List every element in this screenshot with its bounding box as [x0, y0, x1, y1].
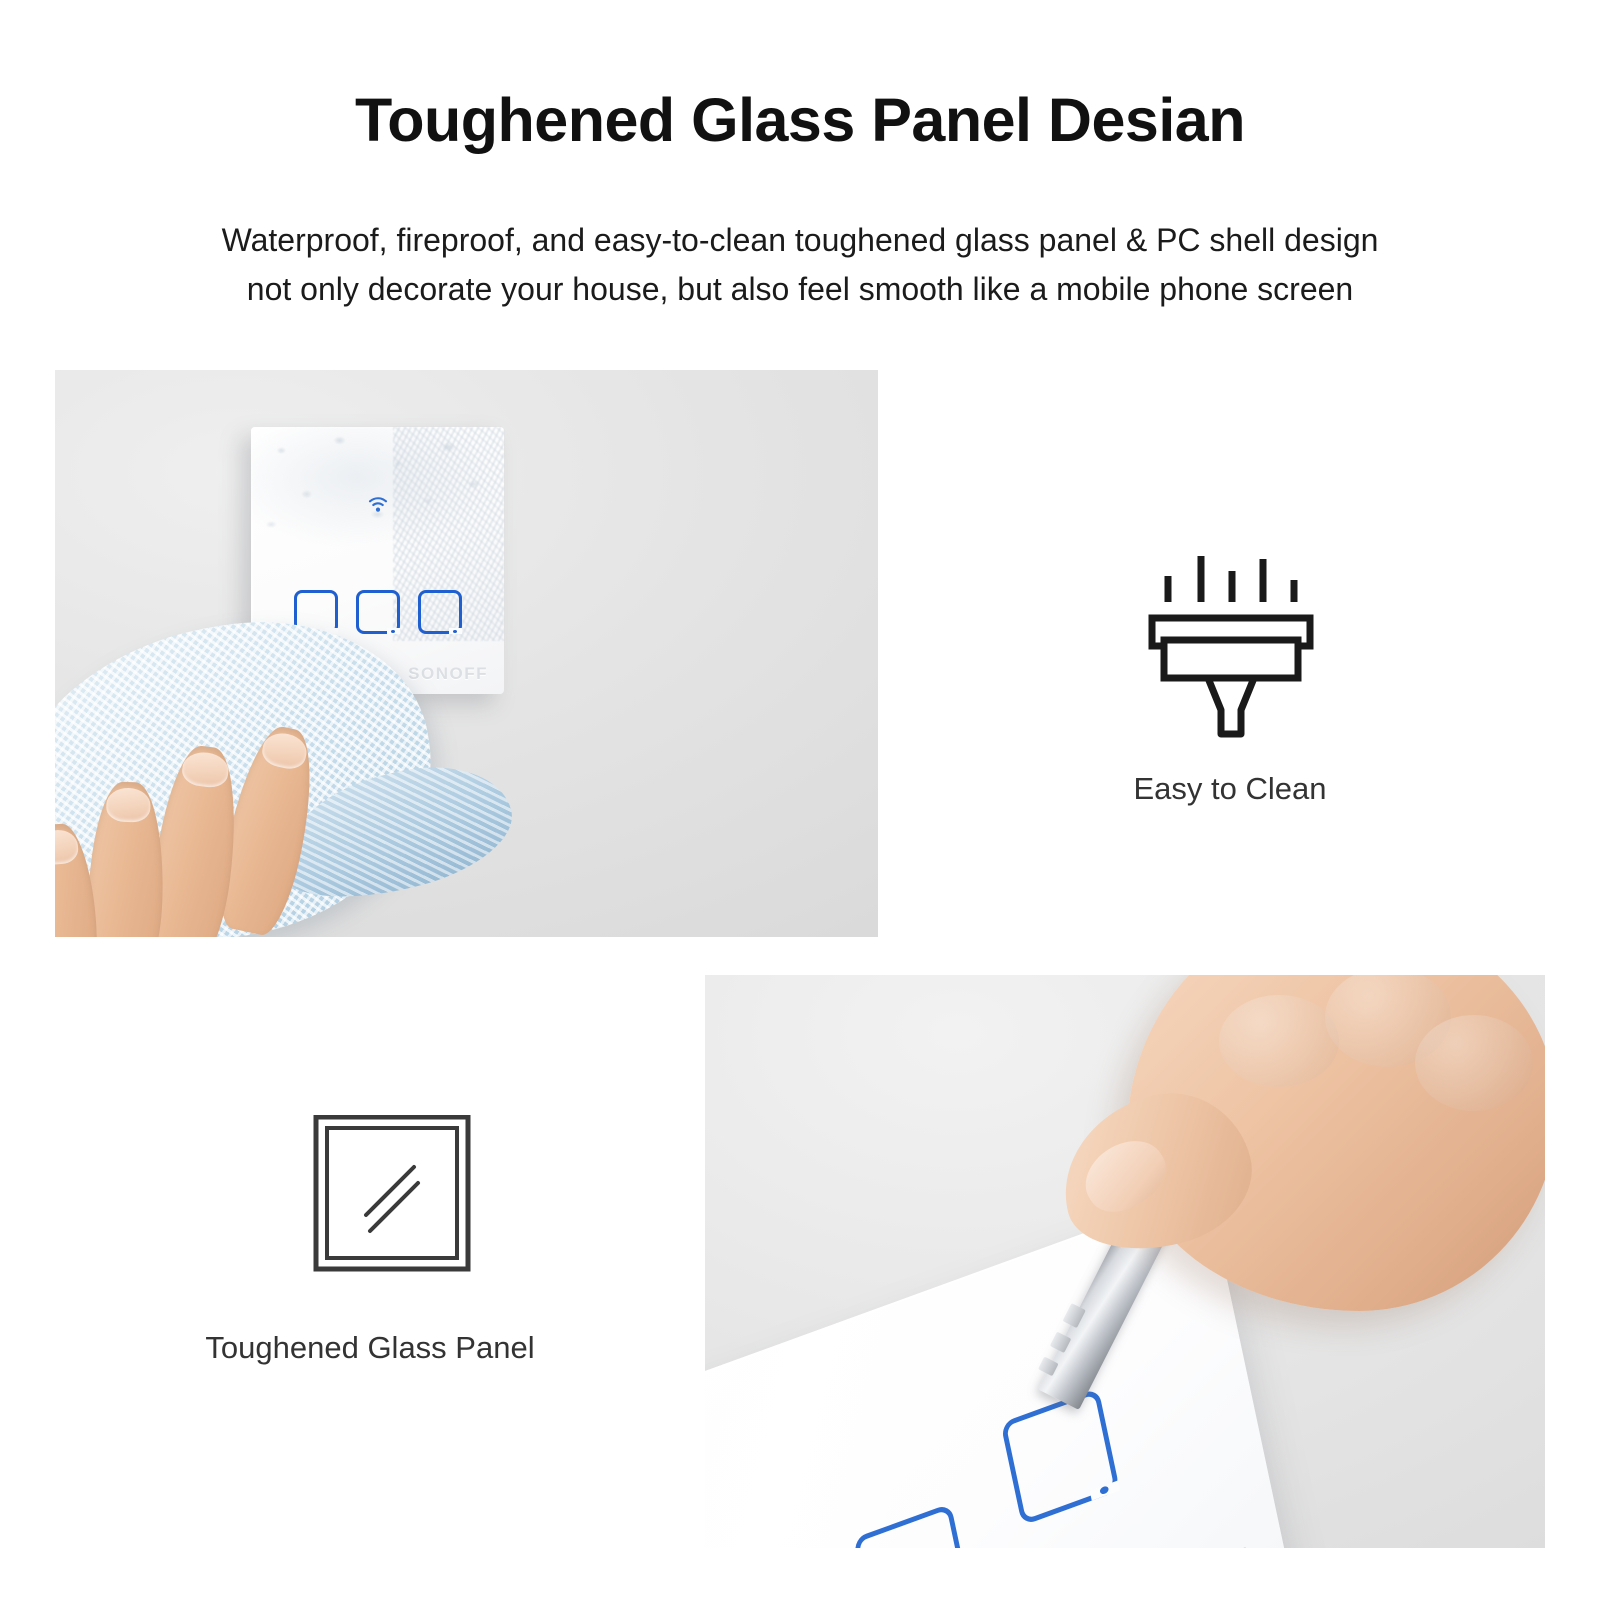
touch-button-3[interactable]: [418, 590, 462, 634]
knuckle: [1219, 995, 1339, 1087]
hand: [55, 720, 375, 937]
knuckle: [1415, 1015, 1533, 1111]
brand-logo: SONOFF: [408, 664, 488, 684]
key-scratch-test-photo: Sonoff: [705, 975, 1545, 1548]
subtitle-line-1: Waterproof, fireproof, and easy-to-clean…: [130, 216, 1470, 265]
fingernail: [55, 829, 79, 866]
feature-easy-to-clean: Easy to Clean: [1060, 540, 1400, 807]
product-feature-banner: Toughened Glass Panel Desian Waterproof,…: [0, 0, 1600, 1600]
feature-label: Toughened Glass Panel: [180, 1330, 560, 1366]
feature-toughened-glass: Toughened Glass Panel: [180, 1115, 560, 1366]
finger-ring: [86, 781, 167, 937]
page-title: Toughened Glass Panel Desian: [0, 88, 1600, 152]
subtitle-line-2: not only decorate your house, but also f…: [130, 265, 1470, 314]
fingernail: [260, 730, 310, 772]
feature-label: Easy to Clean: [1060, 771, 1400, 807]
squeegee-icon: [1060, 540, 1400, 745]
thumbnail: [1073, 1127, 1177, 1224]
page-subtitle: Waterproof, fireproof, and easy-to-clean…: [130, 216, 1470, 313]
fingernail: [106, 787, 152, 823]
hand: [1001, 975, 1545, 1441]
hand-wiping-switch-photo: SONOFF: [55, 370, 878, 937]
touch-button-2[interactable]: [853, 1503, 973, 1548]
glass-panel-icon: [180, 1115, 560, 1300]
wifi-indicator-icon: [368, 497, 388, 518]
touch-button-2[interactable]: [356, 590, 400, 634]
fingernail: [181, 750, 230, 789]
